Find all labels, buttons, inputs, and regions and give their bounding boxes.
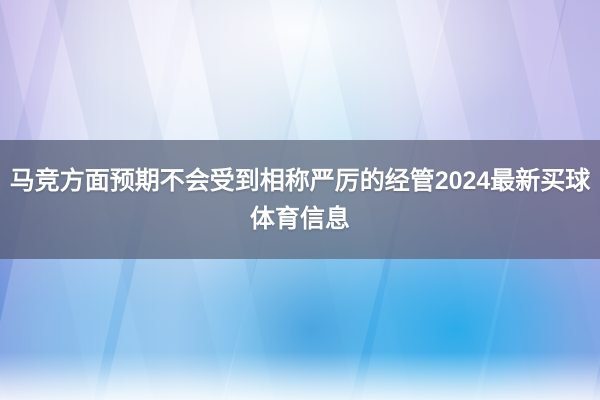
promo-banner-image: 马竞方面预期不会受到相称严厉的经管2024最新买球体育信息 bbox=[0, 0, 600, 400]
caption-overlay-band: 马竞方面预期不会受到相称严厉的经管2024最新买球体育信息 bbox=[0, 140, 600, 259]
banner-headline: 马竞方面预期不会受到相称严厉的经管2024最新买球体育信息 bbox=[0, 162, 600, 238]
